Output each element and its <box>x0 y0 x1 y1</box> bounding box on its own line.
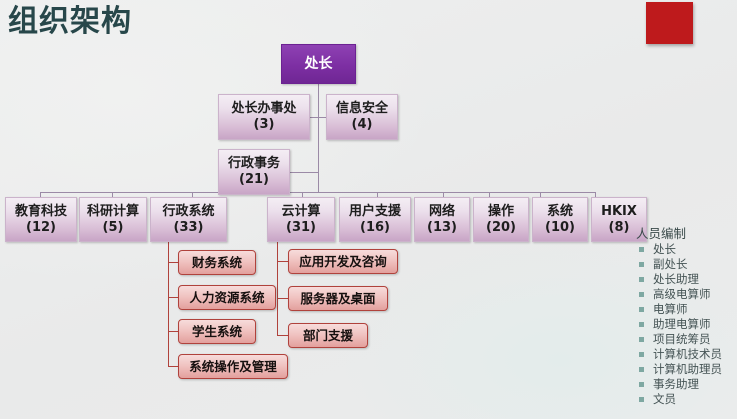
connector-admin-sub-3 <box>168 331 178 332</box>
node-dept-systems[interactable]: 系统 (10) <box>532 197 588 242</box>
node-dept-cloud-computing[interactable]: 云计算 (31) <box>267 197 335 242</box>
node-dept-education-technology-label: 教育科技 <box>15 204 67 220</box>
node-dept-hkix-count: (8) <box>609 220 630 236</box>
legend-item-label: 计算机助理员 <box>653 362 722 376</box>
connector-admin-sub-4 <box>168 366 178 367</box>
node-sub-system-operation-management[interactable]: 系统操作及管理 <box>178 354 288 379</box>
node-sub-system-operation-management-label: 系统操作及管理 <box>189 359 277 375</box>
red-accent-block <box>646 2 693 44</box>
connector-rail-cloud <box>277 242 278 336</box>
connector-rail-admin <box>168 242 169 366</box>
connector-to-administrative-affairs <box>290 172 319 173</box>
node-sub-hr-system[interactable]: 人力资源系统 <box>178 285 276 310</box>
node-dept-cloud-computing-count: (31) <box>286 220 316 236</box>
connector-cloud-sub-2 <box>277 298 288 299</box>
node-dept-user-support[interactable]: 用户支援 (16) <box>339 197 411 242</box>
connector-admin-sub-1 <box>168 262 178 263</box>
node-sub-department-support[interactable]: 部门支援 <box>288 323 368 348</box>
legend-item-label: 项目统筹员 <box>653 332 711 346</box>
node-administrative-affairs[interactable]: 行政事务 (21) <box>218 149 290 195</box>
bullet-icon <box>639 277 644 282</box>
node-dept-research-computing[interactable]: 科研计算 (5) <box>79 197 147 242</box>
node-dept-education-technology-count: (12) <box>26 220 56 236</box>
legend-item-label: 事务助理 <box>653 377 699 391</box>
legend-item: 处长助理 <box>629 272 737 287</box>
connector-cloud-sub-3 <box>277 335 288 336</box>
legend-item: 副处长 <box>629 257 737 272</box>
staff-establishment-legend: 人员编制 处长 副处长 处长助理 高级电算师 电算师 助理电算师 项目统筹员 计… <box>629 226 737 407</box>
legend-item-label: 电算师 <box>653 302 688 316</box>
node-dept-administrative-systems[interactable]: 行政系统 (33) <box>150 197 227 242</box>
legend-item: 助理电算师 <box>629 317 737 332</box>
legend-item: 事务助理 <box>629 377 737 392</box>
legend-item-label: 处长助理 <box>653 272 699 286</box>
node-information-security-label: 信息安全 <box>336 101 388 117</box>
node-dept-network[interactable]: 网络 (13) <box>414 197 470 242</box>
legend-item: 文员 <box>629 392 737 407</box>
legend-item: 电算师 <box>629 302 737 317</box>
node-sub-server-desktop[interactable]: 服务器及桌面 <box>288 286 388 311</box>
node-director-office[interactable]: 处长办事处 (3) <box>218 94 310 140</box>
legend-title: 人员编制 <box>629 226 737 242</box>
node-administrative-affairs-count: (21) <box>239 172 269 188</box>
legend-item: 项目统筹员 <box>629 332 737 347</box>
node-dept-operations-label: 操作 <box>488 204 514 220</box>
legend-item-label: 文员 <box>653 392 676 406</box>
node-dept-user-support-count: (16) <box>360 220 390 236</box>
node-dept-research-computing-label: 科研计算 <box>87 204 139 220</box>
node-sub-app-development-consulting-label: 应用开发及咨询 <box>299 254 387 270</box>
legend-item: 高级电算师 <box>629 287 737 302</box>
legend-item: 计算机助理员 <box>629 362 737 377</box>
node-sub-finance-system-label: 财务系统 <box>192 255 242 271</box>
node-sub-app-development-consulting[interactable]: 应用开发及咨询 <box>288 249 398 274</box>
node-dept-operations[interactable]: 操作 (20) <box>473 197 529 242</box>
bullet-icon <box>639 262 644 267</box>
slide-canvas: 组织架构 处长 处长办事处 (3) 信息安全 (4) 行政 <box>0 0 737 419</box>
node-dept-network-label: 网络 <box>429 204 455 220</box>
bullet-icon <box>639 307 644 312</box>
node-director-label: 处长 <box>305 56 333 72</box>
legend-item-label: 处长 <box>653 242 676 256</box>
node-director-office-label: 处长办事处 (3) <box>222 101 306 133</box>
node-dept-systems-label: 系统 <box>547 204 573 220</box>
node-information-security-count: (4) <box>352 117 373 133</box>
bullet-icon <box>639 382 644 387</box>
node-information-security[interactable]: 信息安全 (4) <box>326 94 398 140</box>
node-dept-systems-count: (10) <box>545 220 575 236</box>
node-sub-finance-system[interactable]: 财务系统 <box>178 250 256 275</box>
legend-item: 计算机技术员 <box>629 347 737 362</box>
node-dept-hkix-label: HKIX <box>601 204 637 220</box>
node-sub-student-system-label: 学生系统 <box>192 324 242 340</box>
connector-admin-sub-2 <box>168 297 178 298</box>
node-dept-research-computing-count: (5) <box>103 220 124 236</box>
node-director[interactable]: 处长 <box>281 44 356 84</box>
legend-item: 处长 <box>629 242 737 257</box>
bullet-icon <box>639 322 644 327</box>
node-dept-user-support-label: 用户支援 <box>349 204 401 220</box>
connector-department-bar <box>40 192 595 193</box>
connector-cloud-sub-1 <box>277 261 288 262</box>
node-dept-administrative-systems-label: 行政系统 <box>162 204 214 220</box>
node-dept-operations-count: (20) <box>486 220 516 236</box>
bullet-icon <box>639 397 644 402</box>
connector-spine-main <box>318 84 319 193</box>
bullet-icon <box>639 247 644 252</box>
node-dept-education-technology[interactable]: 教育科技 (12) <box>5 197 77 242</box>
connector-to-information-security <box>318 117 326 118</box>
bullet-icon <box>639 337 644 342</box>
legend-item-label: 副处长 <box>653 257 688 271</box>
legend-item-label: 高级电算师 <box>653 287 711 301</box>
page-title: 组织架构 <box>8 2 132 42</box>
node-sub-server-desktop-label: 服务器及桌面 <box>300 291 375 307</box>
bullet-icon <box>639 352 644 357</box>
bullet-icon <box>639 367 644 372</box>
node-sub-student-system[interactable]: 学生系统 <box>178 319 256 344</box>
legend-item-label: 助理电算师 <box>653 317 711 331</box>
legend-item-label: 计算机技术员 <box>653 347 722 361</box>
node-sub-department-support-label: 部门支援 <box>303 328 353 344</box>
bullet-icon <box>639 292 644 297</box>
node-sub-hr-system-label: 人力资源系统 <box>189 290 264 306</box>
legend-list: 处长 副处长 处长助理 高级电算师 电算师 助理电算师 项目统筹员 计算机技术员… <box>629 242 737 407</box>
node-dept-administrative-systems-count: (33) <box>174 220 204 236</box>
node-administrative-affairs-label: 行政事务 <box>228 156 280 172</box>
node-dept-cloud-computing-label: 云计算 <box>281 204 320 220</box>
node-dept-network-count: (13) <box>427 220 457 236</box>
